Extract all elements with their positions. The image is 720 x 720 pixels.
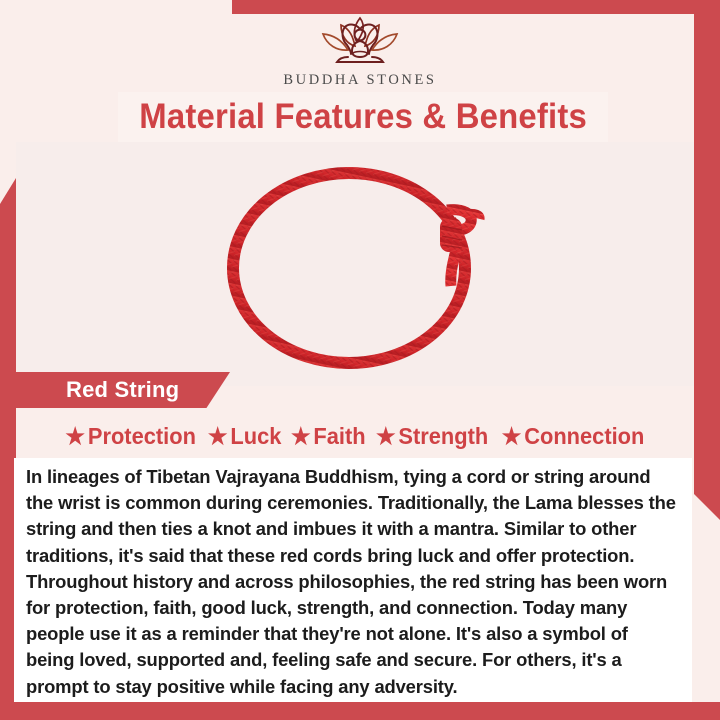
lotus-meditation-icon [301, 12, 419, 70]
product-label: Red String [16, 377, 179, 403]
feature-label: Connection [524, 423, 644, 450]
product-label-ribbon: Red String [16, 372, 230, 408]
feature-item-luck: ★ Luck [208, 423, 281, 450]
feature-label: Luck [230, 423, 281, 450]
brand-name: BUDDHA STONES [0, 72, 720, 89]
title-band: Material Features & Benefits [118, 92, 608, 142]
brand-logo: BUDDHA STONES [0, 12, 720, 89]
description-panel: In lineages of Tibetan Vajrayana Buddhis… [14, 458, 692, 702]
page-title: Material Features & Benefits [139, 97, 587, 137]
feature-item-strength: ★ Strength [376, 423, 488, 450]
product-photo-area [16, 142, 694, 386]
feature-item-faith: ★ Faith [291, 423, 366, 450]
feature-label: Protection [88, 423, 196, 450]
feature-item-connection: ★ Connection [501, 423, 644, 450]
description-text: In lineages of Tibetan Vajrayana Buddhis… [26, 464, 676, 700]
star-icon: ★ [66, 425, 86, 448]
star-icon: ★ [291, 425, 311, 448]
feature-label: Faith [313, 423, 365, 450]
feature-label: Strength [399, 423, 489, 450]
frame-bottom-bar [0, 702, 720, 720]
feature-item-protection: ★ Protection [66, 423, 196, 450]
star-icon: ★ [376, 425, 396, 448]
star-icon: ★ [208, 425, 228, 448]
feature-list: ★ Protection ★ Luck ★ Faith ★ Strength ★… [16, 414, 694, 458]
infographic-poster: BUDDHA STONES Material Features & Benefi… [0, 0, 720, 720]
star-icon: ★ [501, 425, 521, 448]
red-string-bracelet-photo [219, 158, 491, 370]
